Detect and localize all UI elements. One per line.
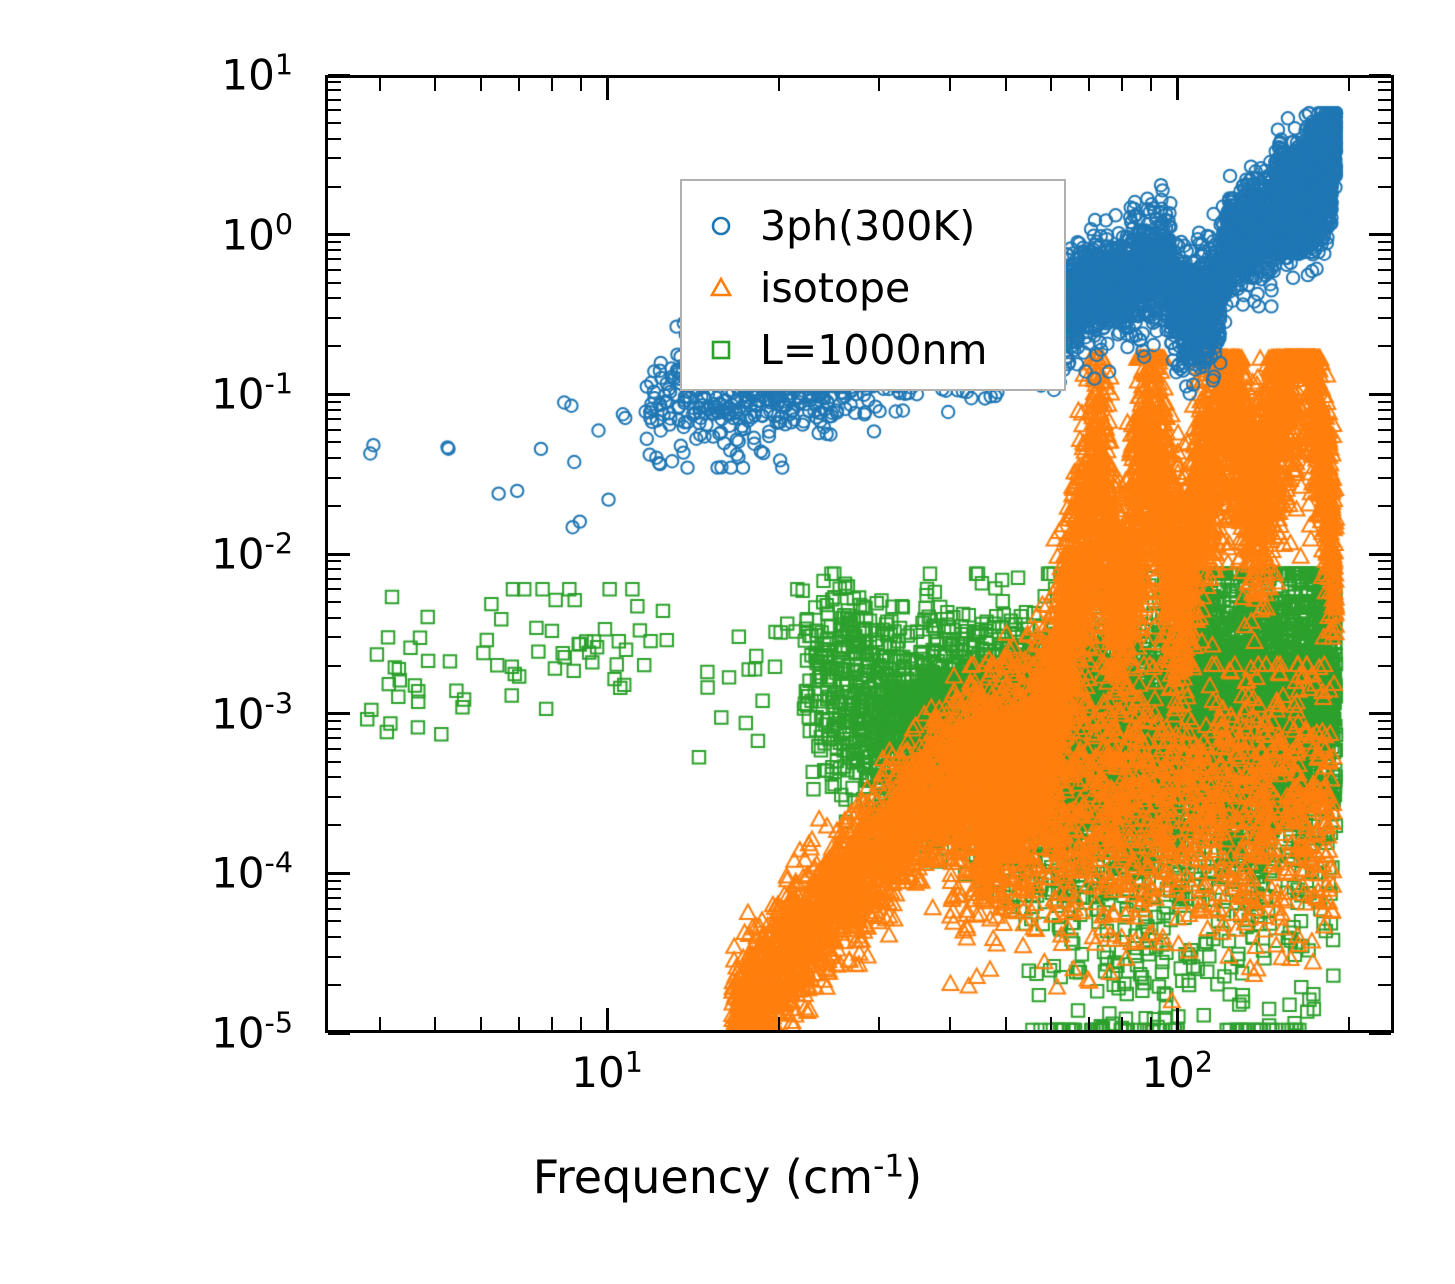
y-major-tick (328, 233, 350, 236)
y-minor-tick-right (1378, 505, 1391, 507)
y-minor-tick-right (1378, 824, 1391, 826)
x-minor-tick (518, 1017, 520, 1030)
x-minor-tick (878, 1017, 880, 1030)
y-minor-tick-right (1378, 601, 1391, 603)
x-minor-tick-top (379, 78, 381, 91)
x-minor-tick-top (949, 78, 951, 91)
y-major-tick-right (1369, 74, 1391, 77)
y-major-tick-right (1369, 553, 1391, 556)
y-minor-tick (328, 109, 341, 111)
y-minor-tick-right (1378, 897, 1391, 899)
square-marker-icon (682, 337, 760, 363)
y-minor-tick (328, 297, 341, 299)
y-minor-tick (328, 880, 341, 882)
y-minor-tick (328, 241, 341, 243)
y-minor-tick (328, 720, 341, 722)
y-minor-tick-right (1378, 81, 1391, 83)
y-minor-tick-right (1378, 568, 1391, 570)
x-minor-tick (949, 1017, 951, 1030)
y-tick-label: 10-4 (211, 849, 293, 898)
x-minor-tick-top (551, 78, 553, 91)
y-minor-tick-right (1378, 429, 1391, 431)
y-minor-tick (328, 138, 341, 140)
x-major-tick (1176, 1008, 1179, 1030)
plot-area: 3ph(300K)isotopeL=1000nm (325, 75, 1394, 1033)
y-minor-tick-right (1378, 157, 1391, 159)
legend-label: 3ph(300K) (760, 202, 975, 250)
y-minor-tick-right (1378, 401, 1391, 403)
y-minor-tick-right (1378, 282, 1391, 284)
x-minor-tick (1150, 1017, 1152, 1030)
x-minor-tick (480, 1017, 482, 1030)
y-minor-tick-right (1378, 880, 1391, 882)
y-minor-tick (328, 457, 341, 459)
y-minor-tick (328, 418, 341, 420)
x-minor-tick (778, 1017, 780, 1030)
y-major-tick (328, 872, 350, 875)
y-minor-tick-right (1378, 138, 1391, 140)
y-tick-label: 10-5 (211, 1009, 293, 1058)
y-minor-tick (328, 737, 341, 739)
y-minor-tick (328, 920, 341, 922)
y-tick-label: 101 (221, 51, 293, 100)
y-minor-tick (328, 617, 341, 619)
y-major-tick-right (1369, 712, 1391, 715)
y-minor-tick-right (1378, 109, 1391, 111)
y-minor-tick (328, 796, 341, 798)
y-tick-label: 100 (221, 210, 293, 259)
x-axis-title: Frequency (cm-1) (0, 1150, 1455, 1204)
y-minor-tick (328, 956, 341, 958)
y-minor-tick-right (1378, 89, 1391, 91)
legend-label: L=1000nm (760, 326, 987, 374)
y-minor-tick-right (1378, 418, 1391, 420)
y-minor-tick (328, 601, 341, 603)
y-major-tick-right (1369, 1032, 1391, 1035)
x-major-tick (606, 1008, 609, 1030)
y-minor-tick-right (1378, 297, 1391, 299)
y-minor-tick (328, 89, 341, 91)
x-minor-tick (379, 1017, 381, 1030)
y-minor-tick-right (1378, 122, 1391, 124)
y-minor-tick-right (1378, 761, 1391, 763)
x-minor-tick (1348, 1017, 1350, 1030)
y-minor-tick-right (1378, 441, 1391, 443)
x-minor-tick-top (1150, 78, 1152, 91)
y-minor-tick-right (1378, 477, 1391, 479)
y-major-tick (328, 712, 350, 715)
y-minor-tick (328, 665, 341, 667)
y-minor-tick-right (1378, 936, 1391, 938)
y-tick-label: 10-3 (211, 689, 293, 738)
x-minor-tick-top (1348, 78, 1350, 91)
y-minor-tick (328, 936, 341, 938)
y-minor-tick (328, 888, 341, 890)
y-minor-tick-right (1378, 908, 1391, 910)
y-minor-tick (328, 317, 341, 319)
x-axis-title-close: ) (904, 1150, 922, 1204)
x-minor-tick (551, 1017, 553, 1030)
x-minor-tick-top (1088, 78, 1090, 91)
y-minor-tick (328, 568, 341, 570)
x-minor-tick-top (878, 78, 880, 91)
y-minor-tick (328, 186, 341, 188)
y-minor-tick (328, 588, 341, 590)
y-minor-tick-right (1378, 457, 1391, 459)
y-minor-tick (328, 897, 341, 899)
circle-marker-icon (682, 213, 760, 239)
y-minor-tick-right (1378, 258, 1391, 260)
x-minor-tick (1088, 1017, 1090, 1030)
x-axis-title-exponent: -1 (873, 1149, 904, 1185)
y-minor-tick (328, 560, 341, 562)
y-minor-tick-right (1378, 636, 1391, 638)
y-minor-tick-right (1378, 99, 1391, 101)
x-minor-tick-top (518, 78, 520, 91)
y-minor-tick-right (1378, 578, 1391, 580)
y-minor-tick (328, 984, 341, 986)
x-minor-tick-top (1005, 78, 1007, 91)
y-minor-tick (328, 477, 341, 479)
y-minor-tick (328, 81, 341, 83)
x-minor-tick-top (1050, 78, 1052, 91)
y-minor-tick (328, 636, 341, 638)
y-minor-tick-right (1378, 241, 1391, 243)
y-minor-tick-right (1378, 796, 1391, 798)
y-minor-tick (328, 409, 341, 411)
y-minor-tick-right (1378, 737, 1391, 739)
y-minor-tick (328, 282, 341, 284)
y-major-tick-right (1369, 233, 1391, 236)
x-tick-label: 101 (571, 1048, 643, 1097)
y-minor-tick (328, 441, 341, 443)
legend-item-l-1000nm[interactable]: L=1000nm (682, 319, 1064, 381)
y-minor-tick-right (1378, 560, 1391, 562)
legend-item-3ph-300k[interactable]: 3ph(300K) (682, 195, 1064, 257)
x-minor-tick (580, 1017, 582, 1030)
x-tick-label: 102 (1141, 1048, 1213, 1097)
y-major-tick (328, 393, 350, 396)
y-minor-tick-right (1378, 956, 1391, 958)
y-minor-tick-right (1378, 409, 1391, 411)
y-major-tick-right (1369, 872, 1391, 875)
x-minor-tick (1050, 1017, 1052, 1030)
y-minor-tick-right (1378, 186, 1391, 188)
y-minor-tick-right (1378, 249, 1391, 251)
y-minor-tick (328, 748, 341, 750)
x-minor-tick (1121, 1017, 1123, 1030)
y-major-tick (328, 553, 350, 556)
y-minor-tick (328, 776, 341, 778)
x-minor-tick-top (1121, 78, 1123, 91)
y-minor-tick (328, 908, 341, 910)
y-minor-tick (328, 728, 341, 730)
y-major-tick (328, 74, 350, 77)
legend-item-isotope[interactable]: isotope (682, 257, 1064, 319)
y-minor-tick-right (1378, 984, 1391, 986)
y-tick-label: 10-2 (211, 530, 293, 579)
x-minor-tick (1005, 1017, 1007, 1030)
y-minor-tick (328, 505, 341, 507)
y-minor-tick (328, 345, 341, 347)
y-minor-tick-right (1378, 617, 1391, 619)
y-minor-tick-right (1378, 345, 1391, 347)
x-minor-tick-top (480, 78, 482, 91)
y-major-tick (328, 1032, 350, 1035)
x-axis-title-text: Frequency (cm (533, 1150, 873, 1204)
y-minor-tick-right (1378, 748, 1391, 750)
legend-label: isotope (760, 264, 910, 312)
figure-scatter-plot: Scattering Rate (ps-1) Frequency (cm-1) … (0, 0, 1455, 1284)
x-minor-tick-top (434, 78, 436, 91)
x-minor-tick (434, 1017, 436, 1030)
y-minor-tick-right (1378, 720, 1391, 722)
y-tick-label: 10-1 (211, 370, 293, 419)
x-major-tick-top (606, 78, 609, 100)
y-minor-tick-right (1378, 728, 1391, 730)
x-major-tick-top (1176, 78, 1179, 100)
triangle-marker-icon (682, 275, 760, 301)
y-minor-tick (328, 249, 341, 251)
y-minor-tick-right (1378, 888, 1391, 890)
y-minor-tick-right (1378, 920, 1391, 922)
y-minor-tick (328, 99, 341, 101)
y-minor-tick (328, 157, 341, 159)
y-minor-tick-right (1378, 269, 1391, 271)
y-minor-tick-right (1378, 588, 1391, 590)
x-minor-tick-top (778, 78, 780, 91)
y-minor-tick (328, 578, 341, 580)
y-minor-tick (328, 429, 341, 431)
y-minor-tick (328, 269, 341, 271)
y-minor-tick-right (1378, 776, 1391, 778)
y-minor-tick (328, 122, 341, 124)
y-minor-tick-right (1378, 665, 1391, 667)
legend-box[interactable]: 3ph(300K)isotopeL=1000nm (680, 179, 1066, 391)
y-major-tick-right (1369, 393, 1391, 396)
y-minor-tick (328, 761, 341, 763)
y-minor-tick (328, 401, 341, 403)
x-minor-tick-top (580, 78, 582, 91)
y-minor-tick-right (1378, 317, 1391, 319)
y-minor-tick (328, 258, 341, 260)
y-minor-tick (328, 824, 341, 826)
